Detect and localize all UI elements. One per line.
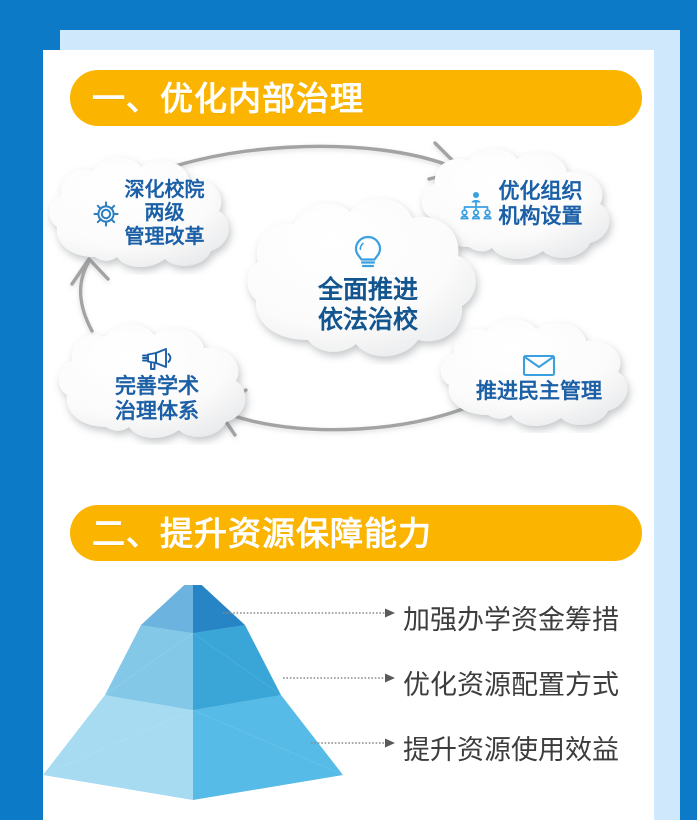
cloud-diagram: 全面推进 依法治校 xyxy=(43,135,654,475)
section-heading-1: 一、优化内部治理 xyxy=(70,70,642,126)
pyramid-label-base: 提升资源使用效益 xyxy=(403,728,619,767)
infographic-page: 一、优化内部治理 xyxy=(0,0,697,820)
pyramid-label-top: 加强办学资金筹措 xyxy=(403,598,619,637)
cloud-node-top-left[interactable]: 深化校院 两级 管理改革 xyxy=(43,153,248,275)
pyramid-label-middle: 优化资源配置方式 xyxy=(403,663,619,702)
section-heading-2: 二、提升资源保障能力 xyxy=(70,505,642,561)
section-heading-1-text: 一、优化内部治理 xyxy=(92,82,364,115)
connector-arrow-2 xyxy=(385,739,395,748)
cloud-node-bottom-left[interactable]: 完善学术 治理体系 xyxy=(51,320,263,445)
section-heading-2-text: 二、提升资源保障能力 xyxy=(92,517,432,550)
pyramid-labels: 加强办学资金筹措 优化资源配置方式 提升资源使用效益 xyxy=(403,585,653,785)
pyramid-chart: 加强办学资金筹措 优化资源配置方式 提升资源使用效益 xyxy=(43,585,654,800)
connector-arrow-1 xyxy=(385,674,395,683)
cloud-node-center[interactable]: 全面推进 依法治校 xyxy=(238,190,498,365)
connector-arrow-0 xyxy=(385,609,395,618)
